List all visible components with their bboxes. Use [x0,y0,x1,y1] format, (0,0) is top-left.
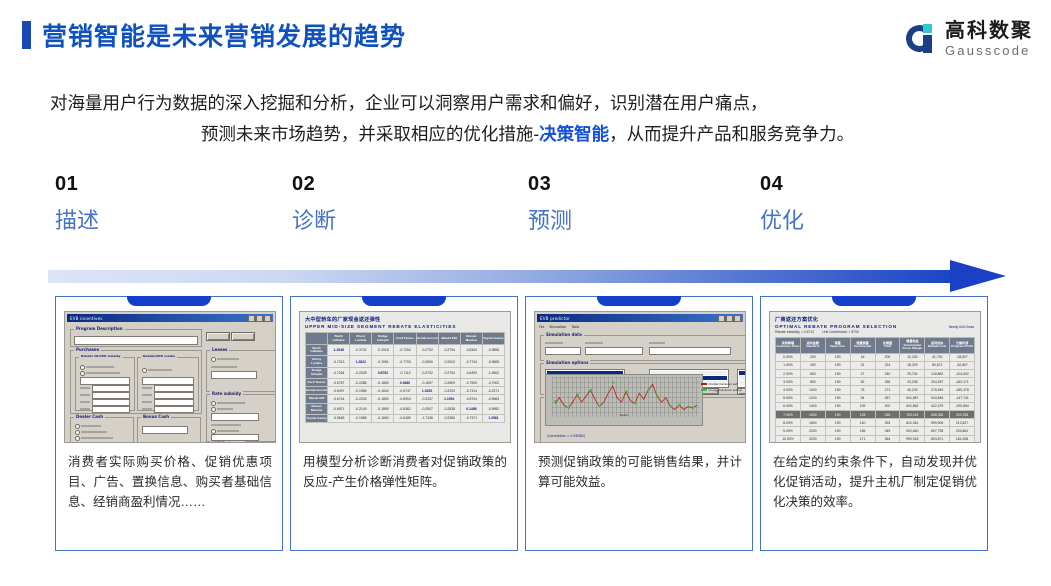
optimal-col-2: 销量Base Line [825,338,850,354]
matrix-cell: -0.7902 [482,378,504,386]
optimal-cell: 302 [875,402,900,410]
optimal-title-cn: 厂商返还方案优化 [775,316,975,323]
optimal-cell: 204,287 [925,378,950,386]
optimal-cell: 1600 [800,410,825,418]
optimal-sub-mid: Unit Contribution = $790 [822,330,859,334]
step-label-4: 优化 [760,206,804,236]
matrix-cell: -0.2288 [350,378,372,386]
optimal-cell: 190 [825,353,850,361]
intro-line-2: 预测未来市场趋势，并采取相应的优化措施-决策智能，从而提升产品和服务竞争力。 [50,119,1005,150]
legend-item-estimated: Dodge Caravan est [709,382,738,386]
matrix-cell: -0.9982 [482,403,504,414]
matrix-row-header: Chevy Lumina [306,356,328,367]
optimal-cell: 1800 [800,419,825,427]
optimal-cell: -162,171 [950,378,975,386]
step-number-1: 01 [55,172,99,196]
optimal-cell: 5.00% [776,394,801,402]
matrix-row-header: Dodge Intrepid [306,367,328,378]
optimal-cell: -180,378 [950,386,975,394]
matrix-cell: -0.1988 [350,414,372,422]
card-tab-1 [127,296,211,306]
optimal-cell: 3.00% [776,378,801,386]
optimal-col-7: 方案利润Program Profit [950,338,975,354]
optimal-cell: 508,339 [925,410,950,418]
optimal-cell: 125 [850,410,875,418]
optimal-cell: 812,361 [900,419,925,427]
page-title: 营销智能是未来营销发展的趋势 [42,17,406,53]
optimal-cell: 9.00% [776,427,801,435]
optimal-cell: 190 [825,435,850,443]
win3-menubar[interactable]: File Simulation Tools [537,324,743,329]
card-caption-1: 消费者实际购买价格、促销优惠项目、广告、置换信息、购买者基础信息、经销商盈利情况… [68,452,272,512]
win3-segment-field[interactable] [585,347,643,355]
legend-item-actual: Dodge Caravan actual [709,388,742,392]
matrix-col-6: Nissan Maxima [460,333,482,345]
matrix-cell: -0.8704 [460,395,482,403]
matrix-cell: -0.8340 [460,345,482,356]
optimal-cell: 8.00% [776,419,801,427]
table-row: 9.00%2000190156349902,640697,798204,861 [776,427,975,435]
card-tab-2 [362,296,446,306]
matrix-cell: -0.2271 [482,387,504,395]
optimal-cell: 203,768 [950,410,975,418]
win3-region-field[interactable] [649,347,731,355]
matrix-cell: -0.9896 [482,345,504,356]
optimal-cell: 318 [875,410,900,418]
matrix-col-2: Dodge Intrepid [372,333,394,345]
optimal-cell: -28,607 [950,353,975,361]
matrix-cell: -0.2507 [416,403,438,414]
matrix-cell: 0.1498 [460,403,482,414]
elasticity-matrix-table: Buick LaSabreChevy LuminaDodge IntrepidF… [305,332,505,423]
optimal-cell: 364 [875,435,900,443]
optimal-cell: 803,871 [925,435,950,443]
optimal-cell: 33,208 [900,378,925,386]
matrix-cell: 1.1591 [438,395,460,403]
optimal-cell: 7.00% [776,410,801,418]
table-row: Dodge Intrepid-0.7264-0.20280.8752-0.711… [306,367,505,378]
matrix-col-3: Ford Taurus [394,333,416,345]
table-row: Mazda 626-0.6744-0.2235-0.1890-0.6904-0.… [306,395,505,403]
matrix-cell: -0.5645 [328,414,350,422]
win3-model-view-field[interactable] [545,347,581,355]
optimal-cell: 333 [875,419,900,427]
win1-group-program-description: Program Description [74,326,125,331]
intro-line-2-suffix: ，从而提升产品和服务竞争力。 [609,124,854,144]
optimal-cell: -200,854 [950,402,975,410]
optimal-cell: 140 [850,419,875,427]
matrix-cell: -0.7744 [460,356,482,367]
optimal-cell: 94 [850,394,875,402]
logo-name-en: Gausscode [945,44,1033,57]
card-caption-3: 预测促销政策的可能销售结果，并计算可能效益。 [538,452,742,492]
optimal-cell: 287 [875,394,900,402]
series-estimated-line [555,384,697,409]
table-row: 10.00%2200190171364990,918803,871181,008 [776,435,975,443]
matrix-cell: -0.2293 [438,387,460,395]
card-tab-3 [597,296,681,306]
table-row: Buick LaSabre1.1548-0.3742-0.2018-0.7254… [306,345,505,356]
optimal-cell: 1400 [800,402,825,410]
matrix-cell: -0.6189 [394,414,416,422]
matrix-cell: -0.6571 [328,403,350,414]
table-row: 6.00%1400190109302631,862422,379-200,854 [776,402,975,410]
optimal-cell: 990,918 [900,435,925,443]
optimal-cell: 349 [875,427,900,435]
optimal-cell: 10.00% [776,435,801,443]
table-row: 3.00%8001906225533,208204,287-162,171 [776,378,975,386]
optimal-cell: 240 [875,370,900,378]
matrix-cell: 1.2561 [482,414,504,422]
matrix-cell: -0.3702 [416,367,438,378]
table-row: 8.00%1800190140333812,361599,906212,827 [776,419,975,427]
optimal-cell: 80,672 [925,361,950,369]
optimal-cell: 1000 [800,386,825,394]
optimal-cell: 2200 [800,435,825,443]
optimal-col-3: 增量销量Incremental [850,338,875,354]
optimal-cell: 190 [825,419,850,427]
step-label-3: 预测 [528,206,572,236]
optimal-cell: 224 [875,361,900,369]
optimal-cell: 156 [850,427,875,435]
optimal-cell: 206 [875,353,900,361]
win3-title: EVB predictor [540,316,570,321]
matrix-cell: -0.9663 [482,395,504,403]
optimal-col-1: 返利金额Rebate $ [800,338,825,354]
matrix-cell: 0.9480 [394,378,416,386]
optimal-title-en: OPTIMAL REBATE PROGRAM SELECTION [775,324,975,329]
optimal-cell: 543,846 [925,394,950,402]
step-number-3: 03 [528,172,572,196]
optimal-cell: 31 [850,361,875,369]
table-row: 0.00%2001901620610,24041,730-28,607 [776,353,975,361]
card-caption-2: 用模型分析诊断消费者对促销政策的反应-产生价格弹性矩阵。 [303,452,507,492]
matrix-cell: 1.1548 [328,345,350,356]
arrow-body [48,270,956,283]
matrix-cell: -0.2806 [416,356,438,367]
table-row: Nissan Maxima-0.6571-0.2149-0.1869-0.636… [306,403,505,414]
optimal-cell: 190 [825,410,850,418]
optimal-cell: 190 [825,361,850,369]
optimal-cell: 700,119 [900,410,925,418]
optimal-cell: 200 [800,353,825,361]
optimal-cell: 276,949 [925,386,950,394]
win3-menu-file[interactable]: File [539,325,544,329]
step-item-4: 04 优化 [760,172,804,236]
matrix-cell: -0.7371 [460,414,482,422]
card-predict[interactable]: EVB predictor File Simulation Tools Simu… [525,296,753,551]
win3-menu-tools[interactable]: Tools [571,325,579,329]
optimal-cell: 541,587 [900,394,925,402]
optimal-cell: 599,906 [925,419,950,427]
table-row: 5.00%120019094287541,587543,846-147,741 [776,394,975,402]
optimal-col-0: 实际降幅Customer Price [776,338,801,354]
optimal-cell: 18,329 [900,361,925,369]
matrix-col-4: Honda Accord [416,333,438,345]
matrix-col-7: Toyota Camry [482,333,504,345]
matrix-cell: -1.7436 [416,414,438,422]
screenshot-thumbnail-4: 厂商返还方案优化 OPTIMAL REBATE PROGRAM SELECTIO… [769,311,981,443]
intro-line-1: 对海量用户行为数据的深入挖掘和分析，企业可以洞察用户需求和偏好，识别潜在用户痛点… [50,88,1005,119]
optimal-cell: 190 [825,370,850,378]
optimal-cell: 400 [800,361,825,369]
table-row: Chevy Lumina-0.73131.2822-0.1991-0.7793-… [306,356,505,367]
gausscode-logo-icon [906,23,938,55]
table-row: 7.00%1600190125318700,119508,339203,768 [776,410,975,418]
optimal-cell: 271 [875,386,900,394]
win1-group-leases: Leases [210,347,229,352]
optimal-cell: 422,379 [925,402,950,410]
progress-arrow [48,262,1006,292]
matrix-cell: -0.7793 [394,356,416,367]
optimal-cell: 41,730 [925,353,950,361]
win1-title: EVB incentives [70,316,103,321]
page-header: 营销智能是未来营销发展的趋势 高科数聚 Gausscode [0,0,1051,72]
matrix-cell: -0.2235 [350,395,372,403]
win3-group-simulation-options: Simulation options [544,360,590,365]
screenshot-thumbnail-2: 大中型轿车的厂家现金返还弹性 UPPER MID-SIZE SEGMENT RE… [299,311,511,443]
optimal-cell: 171 [850,435,875,443]
optimal-cell: 40,233 [900,386,925,394]
matrix-cell: -0.2028 [350,367,372,378]
step-labels: 01 描述 02 诊断 03 预测 04 优化 [0,172,1051,252]
matrix-title-en: UPPER MID-SIZE SEGMENT REBATE ELASTICITI… [305,324,505,329]
optimal-cell: 1200 [800,394,825,402]
matrix-cell: -0.1890 [372,395,394,403]
matrix-cell: -1.0602 [482,367,504,378]
step-label-1: 描述 [55,206,99,236]
table-row: Ford Taurus-0.6787-0.2288-0.18600.9480-0… [306,378,505,386]
optimal-cell: 10,240 [900,353,925,361]
win1-close-button[interactable] [231,332,255,341]
optimal-cell: 697,798 [925,427,950,435]
optimal-col-6: 返利成本Rebate Cost [925,338,950,354]
optimal-cell: 181,008 [950,435,975,443]
matrix-cell: 1.2822 [350,356,372,367]
matrix-row-header: Nissan Maxima [306,403,328,414]
matrix-cell: -0.1986 [350,387,372,395]
matrix-col-0: Buick LaSabre [328,333,350,345]
optimal-cell: 204,861 [950,427,975,435]
matrix-cell: -0.1697 [416,378,438,386]
matrix-cell: -0.2337 [416,395,438,403]
step-label-2: 诊断 [292,206,336,236]
optimal-col-4: 总销量Total [875,338,900,354]
optimal-cell: 255 [875,378,900,386]
optimal-cell: 2000 [800,427,825,435]
intro-paragraph: 对海量用户行为数据的深入挖掘和分析，企业可以洞察用户需求和偏好，识别潜在用户痛点… [50,88,1005,150]
win1-group-dealer-cash: Dealer Cash [74,414,105,419]
intro-highlight-term: 决策智能 [539,124,609,144]
logo-name-cn: 高科数聚 [945,21,1033,41]
matrix-cell: -0.2669 [438,378,460,386]
matrix-cell: -0.2794 [438,367,460,378]
optimal-cell: 190 [825,394,850,402]
win1-group-rebate-apr-combo: Rebate/APR combo [141,354,177,358]
matrix-cell: -0.5497 [328,387,350,395]
brand-logo: 高科数聚 Gausscode [906,17,1033,61]
win3-chart: Weeks [545,374,703,426]
optimal-sub-left: Rebate elasticity = 0.8712 [775,330,814,334]
win3-menu-simulation[interactable]: Simulation [549,325,566,329]
optimal-cell: 47 [850,370,875,378]
optimal-cell: 902,640 [900,427,925,435]
win1-group-rebate-cr-apr: Rebate CR/APR subsidy [79,354,123,358]
matrix-cell: -0.7314 [460,387,482,395]
optimal-cell: 6.00% [776,402,801,410]
optimal-col-5: 增量收益IncrementalGross Margin [900,338,925,354]
matrix-col-1: Chevy Lumina [350,333,372,345]
optimal-cell: 600 [800,370,825,378]
win1-group-msrp-change: MSRP change [210,441,245,443]
matrix-row-header: Toyota Camry [306,414,328,422]
matrix-cell: -0.2386 [438,414,460,422]
matrix-cell: -0.1660 [372,414,394,422]
matrix-cell: -0.7500 [460,378,482,386]
win1-group-purchases: Purchases [74,347,101,352]
optimal-cell: 800 [800,378,825,386]
table-row: 2.00%6001904724025,704140,862-104,502 [776,370,975,378]
table-row: 4.00%10001907827140,233276,949-180,378 [776,386,975,394]
chart-legend: Dodge Caravan est Dodge Caravan actual [701,382,742,394]
step-number-4: 04 [760,172,804,196]
arrow-head-icon [950,260,1006,292]
chart-correlation-note: (Correlation = 0.98380) [547,434,585,438]
optimal-cell: 212,827 [950,419,975,427]
matrix-cell: -0.7264 [328,367,350,378]
matrix-cell: -0.2002 [438,356,460,367]
optimal-sub-right: Nearly Unit Gross [949,325,974,329]
optimal-cell: 4.00% [776,386,801,394]
matrix-cell: -0.1869 [372,403,394,414]
optimal-cell: 62 [850,378,875,386]
optimal-cell: -62,807 [950,361,975,369]
optimal-cell: 0.00% [776,353,801,361]
optimal-cell: 190 [825,427,850,435]
optimal-rebate-table: 实际降幅Customer Price返利金额Rebate $销量Base Lin… [775,337,975,443]
matrix-row-header: Buick LaSabre [306,345,328,356]
matrix-row-header: Ford Taurus [306,378,328,386]
matrix-cell: -0.1860 [372,378,394,386]
matrix-cell: -0.6904 [394,395,416,403]
matrix-row-header: Mazda 626 [306,395,328,403]
optimal-cell: -104,502 [950,370,975,378]
matrix-cell: -0.5747 [394,387,416,395]
matrix-cell: -0.3742 [350,345,372,356]
card-caption-4: 在给定的约束条件下，自动发现并优化促销活动，提升主机厂制定促销优化决策的效率。 [773,452,977,512]
table-row: 1.00%4001903122418,32980,672-62,807 [776,361,975,369]
matrix-cell: 1.0252 [416,387,438,395]
optimal-cell: 190 [825,402,850,410]
step-item-1: 01 描述 [55,172,99,236]
win1-group-rate-subsidy: Rate subsidy [210,391,243,396]
win1-save-button[interactable] [206,332,230,341]
matrix-cell: -0.6787 [328,378,350,386]
step-item-3: 03 预测 [528,172,572,236]
optimal-cell: 190 [825,386,850,394]
optimal-cell: 631,862 [900,402,925,410]
matrix-cell: -0.7110 [394,367,416,378]
win3-group-simulation-data: Simulation data [544,332,584,337]
card-optimize[interactable]: 厂商返还方案优化 OPTIMAL REBATE PROGRAM SELECTIO… [760,296,988,551]
chart-xlabel: Weeks [546,413,702,417]
matrix-col-5: Mazda 626 [438,333,460,345]
step-number-2: 02 [292,172,336,196]
screenshot-thumbnail-1: EVB incentives Program Description Purch… [64,311,276,443]
optimal-header-row: 实际降幅Customer Price返利金额Rebate $销量Base Lin… [776,338,975,354]
optimal-cell: 140,862 [925,370,950,378]
matrix-header-row: Buick LaSabreChevy LuminaDodge IntrepidF… [306,333,505,345]
win1-group-bonus-cash: Bonus Cash [141,414,171,419]
matrix-cell: -0.2794 [438,345,460,356]
table-row: Honda Accord-0.5497-0.1986-0.1642-0.5747… [306,387,505,395]
matrix-cell: -0.9808 [482,356,504,367]
screenshot-thumbnail-3: EVB predictor File Simulation Tools Simu… [534,311,746,443]
card-diagnose[interactable]: 大中型轿车的厂家现金返还弹性 UPPER MID-SIZE SEGMENT RE… [290,296,518,551]
card-describe[interactable]: EVB incentives Program Description Purch… [55,296,283,551]
optimal-cell: 78 [850,386,875,394]
matrix-cell: -0.2838 [438,403,460,414]
card-tab-4 [832,296,916,306]
matrix-title-cn: 大中型轿车的厂家现金返还弹性 [305,316,505,323]
matrix-cell: -0.6744 [328,395,350,403]
intro-line-2-prefix: 预测未来市场趋势，并采取相应的优化措施- [201,124,539,144]
optimal-cell: 1.00% [776,361,801,369]
optimal-cell: 190 [825,378,850,386]
optimal-cell: 109 [850,402,875,410]
step-item-2: 02 诊断 [292,172,336,236]
card-row: EVB incentives Program Description Purch… [0,296,1051,558]
matrix-cell: -0.1991 [372,356,394,367]
table-row: Toyota Camry-0.5645-0.1988-0.1660-0.6189… [306,414,505,422]
optimal-cell: 16 [850,353,875,361]
matrix-cell: 0.8752 [372,367,394,378]
optimal-cell: -147,741 [950,394,975,402]
matrix-cell: -0.6362 [394,403,416,414]
matrix-cell: -0.2018 [372,345,394,356]
optimal-cell: 25,704 [900,370,925,378]
matrix-cell: -0.2149 [350,403,372,414]
matrix-cell: -0.6490 [460,367,482,378]
matrix-cell: -0.1642 [372,387,394,395]
matrix-cell: -0.7254 [394,345,416,356]
optimal-cell: 2.00% [776,370,801,378]
matrix-cell: -0.2792 [416,345,438,356]
matrix-cell: -0.7313 [328,356,350,367]
matrix-row-header: Honda Accord [306,387,328,395]
title-accent-bar [22,21,31,49]
